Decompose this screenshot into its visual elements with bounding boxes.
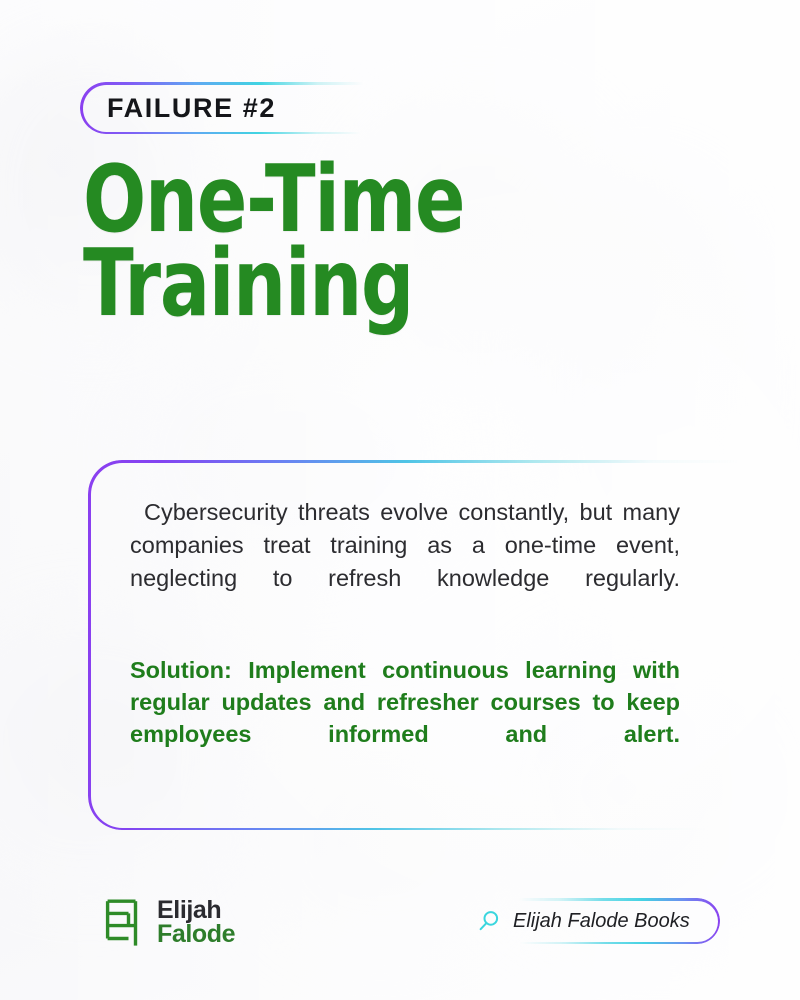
card-body: Cybersecurity threats evolve constantly,… — [130, 496, 680, 783]
badge-label: FAILURE #2 — [107, 82, 276, 134]
handle-label: Elijah Falode Books — [513, 910, 690, 933]
intro-paragraph: Cybersecurity threats evolve constantly,… — [130, 496, 680, 628]
social-handle-pill[interactable]: Elijah Falode Books — [463, 898, 720, 944]
content-card: Cybersecurity threats evolve constantly,… — [88, 460, 778, 830]
brand-name-first: Elijah — [157, 898, 235, 923]
solution-paragraph: Solution: Implement continuous learning … — [130, 654, 680, 784]
failure-number-badge: FAILURE #2 — [80, 82, 400, 134]
brand-logo-text: Elijah Falode — [157, 898, 235, 947]
search-icon — [477, 909, 501, 933]
page-title-line-2: Training — [83, 242, 579, 326]
pill-content: Elijah Falode Books — [463, 898, 720, 944]
page-title: One-Time Training — [83, 158, 579, 325]
elijah-falode-monogram-icon — [104, 897, 148, 947]
slide-content: FAILURE #2 One-Time Training Cybersecuri… — [0, 0, 800, 1000]
brand-logo: Elijah Falode — [104, 897, 235, 947]
brand-name-last: Falode — [157, 922, 235, 947]
